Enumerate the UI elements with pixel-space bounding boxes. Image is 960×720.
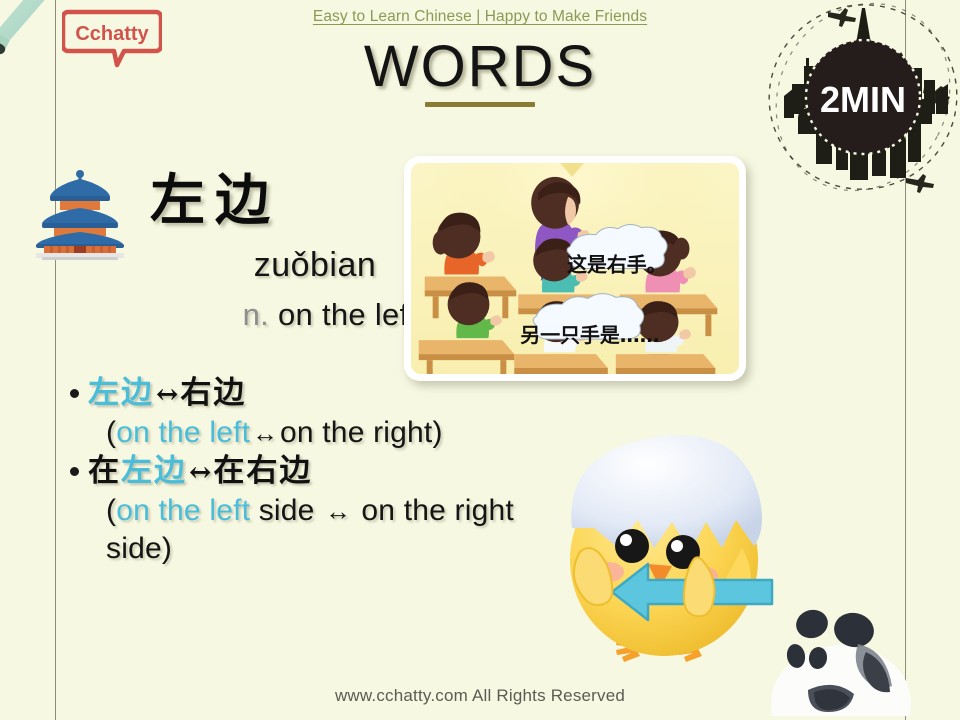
badge-label: 2MIN [820,79,906,120]
text-run: ( [106,416,116,449]
bullet-dot [70,389,79,398]
two-minute-globe-badge: 2MIN [758,0,960,202]
text-run: ( [106,494,116,527]
page-title: WORDS [364,38,596,96]
bullet-list: 左边↔右边 (on the left↔on the right) 在左边↔在右边… [70,374,550,569]
bullet-item: 左边↔右边 (on the left↔on the right) [70,374,550,452]
highlighted-run: 左边 [121,453,187,489]
text-run: on the right) [280,416,443,449]
bullet-cn-line: 左边↔右边 [88,374,246,414]
title-underline-rule [425,102,535,107]
speech-bubble-1-text: 这是右手。 [567,252,666,276]
highlighted-run: 左边 [88,375,154,411]
vertical-rule-left [55,0,56,720]
text-run: 右边 [180,375,246,411]
speech-bubble-2-text: 另一只手是…… [520,323,659,347]
classroom-illustration-canvas: 这是右手。 另一只手是…… [411,163,739,374]
arrow-glyph: ↔ [187,457,213,488]
classroom-illustration: 这是右手。 另一只手是…… [404,156,746,381]
word-part-of-speech: n. [243,297,269,332]
highlighted-run: on the left [116,416,250,449]
bullet-item: 在左边↔在右边 (on the left side ↔ on the right… [70,452,550,568]
word-hanzi: 左边 [150,172,280,227]
bullet-en-line: (on the left↔on the right) [70,414,550,452]
arrow-glyph: ↔ [154,379,180,410]
arrow-glyph: ↔ [323,498,353,526]
bullet-en-line: (on the left side ↔ on the right side) [70,492,550,569]
arrow-glyph: ↔ [250,420,280,448]
bullet-cn-line: 在左边↔在右边 [88,452,312,492]
text-run: 在右边 [213,453,312,489]
bullet-dot [70,467,79,476]
word-definition-text: on the left [278,297,417,332]
footer-text: www.cchatty.com All Rights Reserved [0,686,960,706]
slide-canvas: Cchatty Easy to Learn Chinese | Happy to… [0,0,960,720]
text-run: side [250,494,323,527]
highlighted-run: on the left [116,494,250,527]
text-run: 在 [88,453,121,489]
